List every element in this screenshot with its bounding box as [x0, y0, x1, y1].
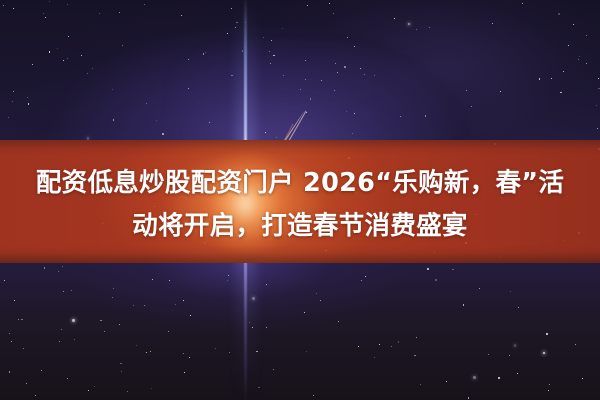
lower-starfield-background [0, 263, 600, 400]
headline-text: 配资低息炒股配资门户 2026“乐购新，春”活 动将开启，打造春节消费盛宴 [0, 162, 600, 248]
headline-line-1: 配资低息炒股配资门户 2026“乐购新，春”活 [0, 162, 600, 205]
promo-banner: 配资低息炒股配资门户 2026“乐购新，春”活 动将开启，打造春节消费盛宴 [0, 0, 600, 400]
headline-line-2: 动将开启，打造春节消费盛宴 [0, 205, 600, 248]
band-top-shade [0, 140, 600, 156]
